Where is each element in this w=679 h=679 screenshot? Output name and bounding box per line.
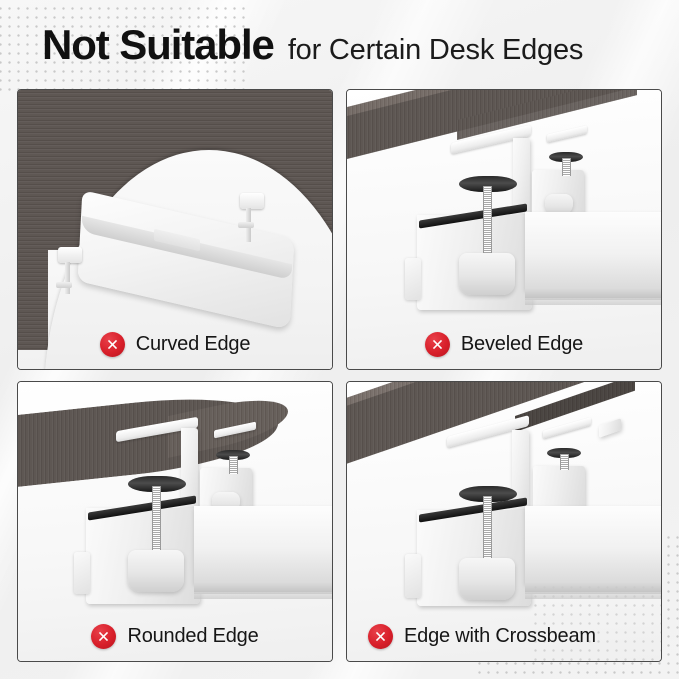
clamp-right-head [240,193,264,209]
x-mark-icon [100,332,125,357]
clamp-side-tab [405,554,421,598]
tray-rail-shadow-line [525,592,661,599]
desk-left-surface [18,90,48,350]
infographic-root: Not Suitable for Certain Desk Edges [0,0,679,679]
clamp-left-stem [65,262,70,294]
clamp-rear-screw [562,158,571,176]
x-mark-icon [368,624,393,649]
crossbeam-end-cap [599,418,621,438]
clamp-right-foot [238,222,254,228]
tray-rail-shadow-line [194,592,332,599]
panel-edge-with-crossbeam: Edge with Crossbeam [346,381,662,662]
caption-curved-edge: Curved Edge [18,332,332,357]
scene-rounded-edge [18,382,332,661]
header: Not Suitable for Certain Desk Edges [0,0,679,89]
clamp-tightening-knob [459,253,515,295]
tray-rail [525,212,661,290]
tray-rail [194,506,332,584]
caption-edge-with-crossbeam: Edge with Crossbeam [347,624,662,649]
panel-grid: Curved Edge [17,89,662,662]
panel-rounded-edge: Rounded Edge [17,381,333,662]
clamp-side-tab [74,552,90,594]
clamp-left-foot [56,282,72,288]
scene-beveled-edge [347,90,661,369]
caption-label: Curved Edge [136,333,251,356]
tray-rail [525,506,661,584]
clamp-tightening-knob [128,550,184,592]
scene-edge-with-crossbeam [347,382,661,661]
caption-label: Rounded Edge [127,625,258,648]
page-title-strong: Not Suitable [42,24,274,66]
clamp-rear-top-jaw [543,417,591,439]
caption-beveled-edge: Beveled Edge [347,332,661,357]
clamp-side-tab [405,258,421,300]
caption-label: Beveled Edge [461,333,583,356]
panel-beveled-edge: Beveled Edge [346,89,662,370]
caption-rounded-edge: Rounded Edge [18,624,332,649]
x-mark-icon [425,332,450,357]
x-mark-icon [91,624,116,649]
clamp-tightening-knob [459,558,515,600]
scene-curved-edge [18,90,332,369]
panel-curved-edge: Curved Edge [17,89,333,370]
clamp-rear-top-jaw [547,125,587,142]
page-title-light: for Certain Desk Edges [288,36,583,65]
clamp-rear-screw [560,454,569,470]
clamp-left-head [58,247,82,263]
header-inner: Not Suitable for Certain Desk Edges [0,24,583,66]
tray-rail-shadow-line [525,298,661,305]
caption-label: Edge with Crossbeam [404,625,596,648]
clamp-rear-screw [229,456,238,474]
